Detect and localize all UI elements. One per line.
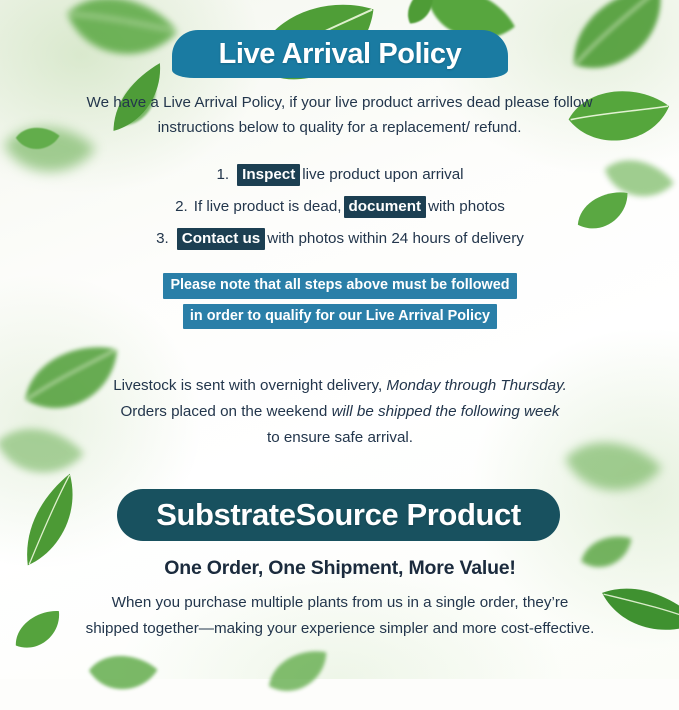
policy-steps-list: 1. Inspect live product upon arrival 2. … — [90, 164, 590, 260]
step-text-after: with photos within 24 hours of delivery — [267, 230, 524, 247]
shipping-line-2-plain: Orders placed on the weekend — [120, 403, 327, 420]
list-item: 3. Contact us with photos within 24 hour… — [90, 228, 590, 250]
product-body-line-2: together—making your experience simpler … — [143, 620, 594, 637]
policy-intro-paragraph: We have a Live Arrival Policy, if your l… — [76, 91, 603, 140]
policy-intro-line-2: instructions below to quality for a repl… — [158, 119, 522, 136]
substratesource-product-banner: SubstrateSource Product — [117, 489, 560, 541]
policy-page: Live Arrival Policy We have a Live Arriv… — [0, 0, 679, 679]
shipping-line-2: Orders placed on the weekend will be shi… — [90, 399, 590, 425]
policy-intro-line-1: We have a Live Arrival Policy, if your l… — [87, 94, 593, 111]
step-number: 2. — [175, 198, 188, 215]
step-text-before: If live product is dead, — [194, 198, 342, 215]
product-body-paragraph: When you purchase multiple plants from u… — [83, 590, 597, 641]
product-sub-heading: One Order, One Shipment, More Value! — [90, 557, 590, 580]
step-highlight-inspect: Inspect — [237, 164, 300, 186]
list-item: 1. Inspect live product upon arrival — [90, 164, 590, 186]
shipping-paragraph: Livestock is sent with overnight deliver… — [90, 373, 590, 451]
policy-note-line-1: Please note that all steps above must be… — [163, 273, 516, 299]
shipping-line-1-italic: Monday through Thursday. — [386, 377, 566, 394]
list-item: 2. If live product is dead, document wit… — [90, 196, 590, 218]
step-number: 1. — [216, 166, 229, 183]
shipping-line-1-plain: Livestock is sent with overnight deliver… — [113, 377, 382, 394]
shipping-line-2-italic: will be shipped the following week — [332, 403, 560, 420]
step-number: 3. — [156, 230, 169, 247]
step-text-after: with photos — [428, 198, 505, 215]
policy-note-box: Please note that all steps above must be… — [90, 273, 590, 334]
policy-note-line-2: in order to qualify for our Live Arrival… — [183, 304, 497, 330]
step-text-after: live product upon arrival — [302, 166, 463, 183]
step-highlight-contact-us: Contact us — [177, 228, 265, 250]
shipping-line-3: to ensure safe arrival. — [90, 425, 590, 451]
shipping-line-1: Livestock is sent with overnight deliver… — [90, 373, 590, 399]
step-highlight-document: document — [344, 196, 427, 218]
live-arrival-policy-banner: Live Arrival Policy — [172, 30, 508, 78]
